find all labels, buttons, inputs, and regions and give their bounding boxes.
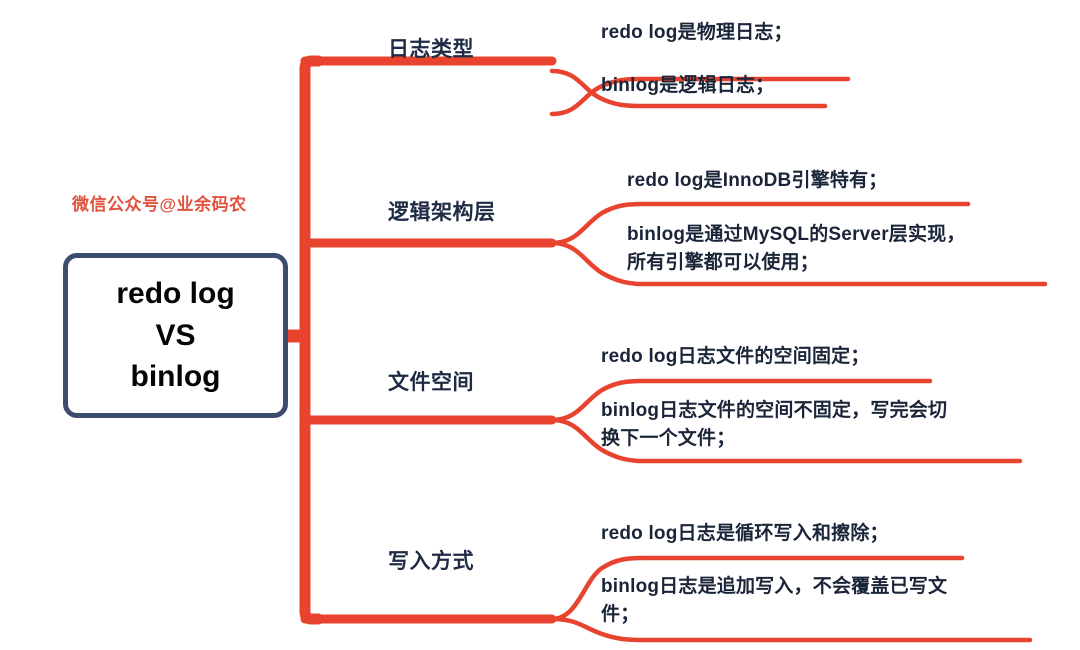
leaf-1-1[interactable]: redo log是物理日志； xyxy=(601,19,793,47)
leaf-4-2-line-2: 件； xyxy=(601,601,947,629)
mindmap-canvas: 微信公众号@业余码农 redo log VS binlog 日志类型 redo … xyxy=(0,0,1080,650)
leaf-3-1-line-1: redo log日志文件的空间固定； xyxy=(601,343,870,371)
root-node-line-3: binlog xyxy=(131,356,221,397)
root-node-line-1: redo log xyxy=(116,273,234,314)
leaf-3-2[interactable]: binlog日志文件的空间不固定，写完会切 换下一个文件； xyxy=(601,397,947,453)
leaf-1-1-line-1: redo log是物理日志； xyxy=(601,19,793,47)
leaf-3-1[interactable]: redo log日志文件的空间固定； xyxy=(601,343,870,371)
leaf-2-1-line-1: redo log是InnoDB引擎特有； xyxy=(627,167,887,195)
leaf-4-2[interactable]: binlog日志是追加写入，不会覆盖已写文 件； xyxy=(601,573,947,629)
branch-label-write-mode[interactable]: 写入方式 xyxy=(388,545,474,575)
leaf-2-2-line-1: binlog是通过MySQL的Server层实现， xyxy=(627,221,966,249)
leaf-1-2-line-1: binlog是逻辑日志； xyxy=(601,72,774,100)
watermark-text: 微信公众号@业余码农 xyxy=(72,190,247,215)
root-node[interactable]: redo log VS binlog xyxy=(63,253,288,418)
root-node-line-2: VS xyxy=(155,315,195,356)
branch-label-log-type[interactable]: 日志类型 xyxy=(388,33,474,63)
leaf-2-2-line-2: 所有引擎都可以使用； xyxy=(627,249,966,277)
leaf-4-2-line-1: binlog日志是追加写入，不会覆盖已写文 xyxy=(601,573,947,601)
leaf-1-2[interactable]: binlog是逻辑日志； xyxy=(601,72,774,100)
leaf-4-1[interactable]: redo log日志是循环写入和擦除； xyxy=(601,520,889,548)
leaf-4-1-line-1: redo log日志是循环写入和擦除； xyxy=(601,520,889,548)
leaf-3-2-line-2: 换下一个文件； xyxy=(601,425,947,453)
node-layer: 微信公众号@业余码农 redo log VS binlog 日志类型 redo … xyxy=(0,0,1080,650)
leaf-2-1[interactable]: redo log是InnoDB引擎特有； xyxy=(627,167,887,195)
leaf-3-2-line-1: binlog日志文件的空间不固定，写完会切 xyxy=(601,397,947,425)
leaf-2-2[interactable]: binlog是通过MySQL的Server层实现， 所有引擎都可以使用； xyxy=(627,221,966,277)
branch-label-logical-architecture[interactable]: 逻辑架构层 xyxy=(388,196,496,226)
branch-label-file-space[interactable]: 文件空间 xyxy=(388,366,474,396)
